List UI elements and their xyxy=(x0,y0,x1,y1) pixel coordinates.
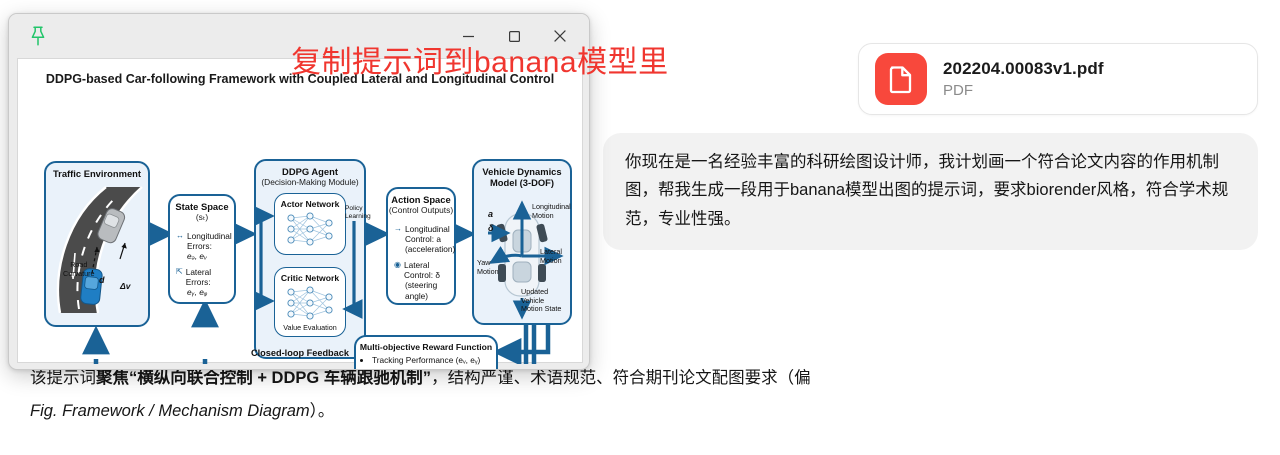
action-space-item2-note: (steering angle) xyxy=(394,280,448,301)
vehicle-dynamics-title: Vehicle Dynamics xyxy=(474,161,570,177)
input-delta-label: δ xyxy=(488,223,494,234)
assistant-line3-c: ，结构严谨、术语规范、符合期刊论文配图要求（偏 xyxy=(431,369,811,387)
pdf-file-name: 202204.00083v1.pdf xyxy=(943,59,1104,79)
pdf-attachment-card[interactable]: 202204.00083v1.pdf PDF xyxy=(858,43,1258,115)
updated-state-label: UpdatedVehicleMotion State xyxy=(521,288,561,314)
action-space-body: → Longitudinal Control: a (acceleration)… xyxy=(388,216,454,302)
state-space-item2-label: Lateral Errors: xyxy=(186,267,228,288)
action-space-item2-label: Lateral Control: δ xyxy=(404,260,448,281)
action-space-title: Action Space xyxy=(388,189,454,205)
horizontal-arrows-icon: ↔ xyxy=(176,231,184,252)
road-curvature-label: RoadCurvature xyxy=(63,261,95,278)
reward-item: Comfort (a, δ) xyxy=(372,367,496,371)
gap-distance-label: d xyxy=(99,275,105,286)
traffic-environment-title: Traffic Environment xyxy=(46,163,148,179)
pin-icon[interactable] xyxy=(25,23,51,49)
node-action-space: Action Space (Control Outputs) → Longitu… xyxy=(386,187,456,305)
assistant-line-4: Fig. Framework / Mechanism Diagram）。 xyxy=(30,395,1052,429)
screen: 202204.00083v1.pdf PDF 你现在是一名经验丰富的科研绘图设计… xyxy=(0,0,1280,455)
arrow-right-icon: → xyxy=(394,224,402,245)
user-message-bubble: 你现在是一名经验丰富的科研绘图设计师，我计划画一个符合论文内容的作用机制图，帮我… xyxy=(603,133,1258,250)
longitudinal-motion-label: LongitudinalMotion xyxy=(532,203,571,220)
node-state-space: State Space (sₜ) ↔ Longitudinal Errors: … xyxy=(168,194,236,304)
action-space-subtitle: (Control Outputs) xyxy=(388,205,454,215)
yaw-motion-label: YawMotion xyxy=(477,259,499,276)
node-ddpg-agent: DDPG Agent (Decision-Making Module) Acto… xyxy=(254,159,366,359)
state-space-item1-vars: eₔ, eᵥ xyxy=(176,251,228,261)
annotation-text: 复制提示词到banana模型里 xyxy=(291,37,669,81)
vehicle-dynamics-subtitle: Model (3-DOF) xyxy=(474,177,570,188)
state-space-title: State Space xyxy=(170,196,234,212)
agent-internal-arrows xyxy=(256,161,368,361)
pdf-meta: 202204.00083v1.pdf PDF xyxy=(943,59,1104,99)
assistant-line3-a: 该提示词 xyxy=(30,369,96,387)
policy-learning-label: PolicyLearning xyxy=(345,205,371,220)
assistant-line4-b: ）。 xyxy=(310,402,335,420)
state-space-item1-label: Longitudinal Errors: xyxy=(187,231,232,252)
delta-v-label: Δv xyxy=(120,281,130,291)
assistant-line3-b: 聚焦“横纵向联合控制 + DDPG 车辆跟驰机制” xyxy=(96,369,431,387)
action-space-item1-label: Longitudinal Control: a xyxy=(405,224,450,245)
screenshot-canvas: DDPG-based Car-following Framework with … xyxy=(17,58,583,363)
node-vehicle-dynamics: Vehicle Dynamics Model (3-DOF) xyxy=(472,159,572,325)
road-scene-illustration xyxy=(46,181,148,315)
assistant-line4-a: Fig. Framework / Mechanism Diagram xyxy=(30,402,310,420)
pdf-file-type: PDF xyxy=(943,82,1104,99)
steering-wheel-icon: ◉ xyxy=(394,260,401,281)
action-space-item1-note: (acceleration) xyxy=(394,244,448,254)
input-a-label: a xyxy=(488,209,493,220)
state-space-item2-vars: eᵧ, eᵩ xyxy=(176,287,228,297)
closed-loop-feedback-label: Closed-loop Feedback xyxy=(18,348,582,358)
state-space-subtitle: (sₜ) xyxy=(170,212,234,222)
node-traffic-environment: Traffic Environment xyxy=(44,161,150,327)
user-message-text: 你现在是一名经验丰富的科研绘图设计师，我计划画一个符合论文内容的作用机制图，帮我… xyxy=(625,153,1228,228)
framework-diagram: DDPG-based Car-following Framework with … xyxy=(18,59,582,362)
state-space-body: ↔ Longitudinal Errors: eₔ, eᵥ ⇱ Lateral … xyxy=(170,223,234,298)
lateral-offset-icon: ⇱ xyxy=(176,267,183,288)
lateral-motion-label: LateralMotion xyxy=(540,248,562,265)
pdf-document-icon xyxy=(875,53,927,105)
